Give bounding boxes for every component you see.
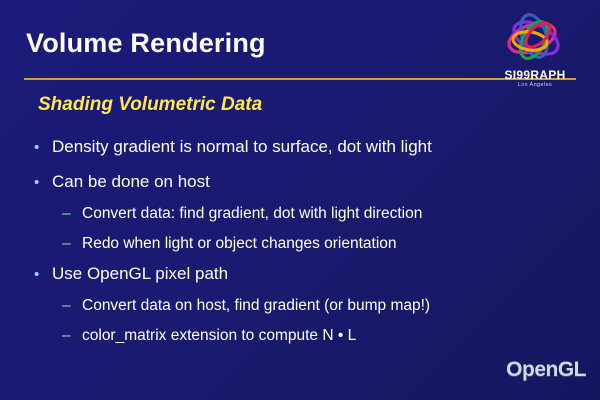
bullet-item-4: –Redo when light or object changes orien… [62, 235, 397, 253]
bullet-item-6: –Convert data on host, find gradient (or… [62, 297, 430, 315]
opengl-logo: OpenGL [474, 352, 586, 390]
bullet-item-7: –color_matrix extension to compute N • L [62, 327, 356, 345]
dash-marker-icon: – [62, 327, 82, 345]
bullet-item-1: •Density gradient is normal to surface, … [34, 137, 432, 157]
slide-subtitle: Shading Volumetric Data [38, 94, 262, 116]
bullet-marker-icon: • [34, 174, 52, 191]
siggraph-location: Los Angeles [480, 82, 590, 88]
bullet-item-5: •Use OpenGL pixel path [34, 264, 228, 284]
bullet-item-3: –Convert data: find gradient, dot with l… [62, 205, 422, 223]
bullet-text: Use OpenGL pixel path [52, 264, 228, 283]
siggraph-wordmark: SI99RAPH [480, 68, 590, 82]
page-title: Volume Rendering [26, 28, 266, 59]
bullet-marker-icon: • [34, 266, 52, 283]
bullet-item-2: •Can be done on host [34, 172, 210, 192]
bullet-text: Can be done on host [52, 172, 210, 191]
slide-canvas: Volume Rendering Shading Volumetric Data… [0, 0, 600, 400]
dash-marker-icon: – [62, 235, 82, 253]
bullet-text: Redo when light or object changes orient… [82, 235, 397, 252]
siggraph-logo: SI99RAPH Los Angeles [480, 8, 590, 94]
dash-marker-icon: – [62, 205, 82, 223]
bullet-text: color_matrix extension to compute N • L [82, 327, 356, 344]
bullet-marker-icon: • [34, 139, 52, 156]
bullet-text: Convert data on host, find gradient (or … [82, 297, 430, 314]
bullet-text: Convert data: find gradient, dot with li… [82, 205, 422, 222]
bullet-text: Density gradient is normal to surface, d… [52, 137, 432, 156]
dash-marker-icon: – [62, 297, 82, 315]
opengl-wordmark: OpenGL [474, 358, 586, 382]
